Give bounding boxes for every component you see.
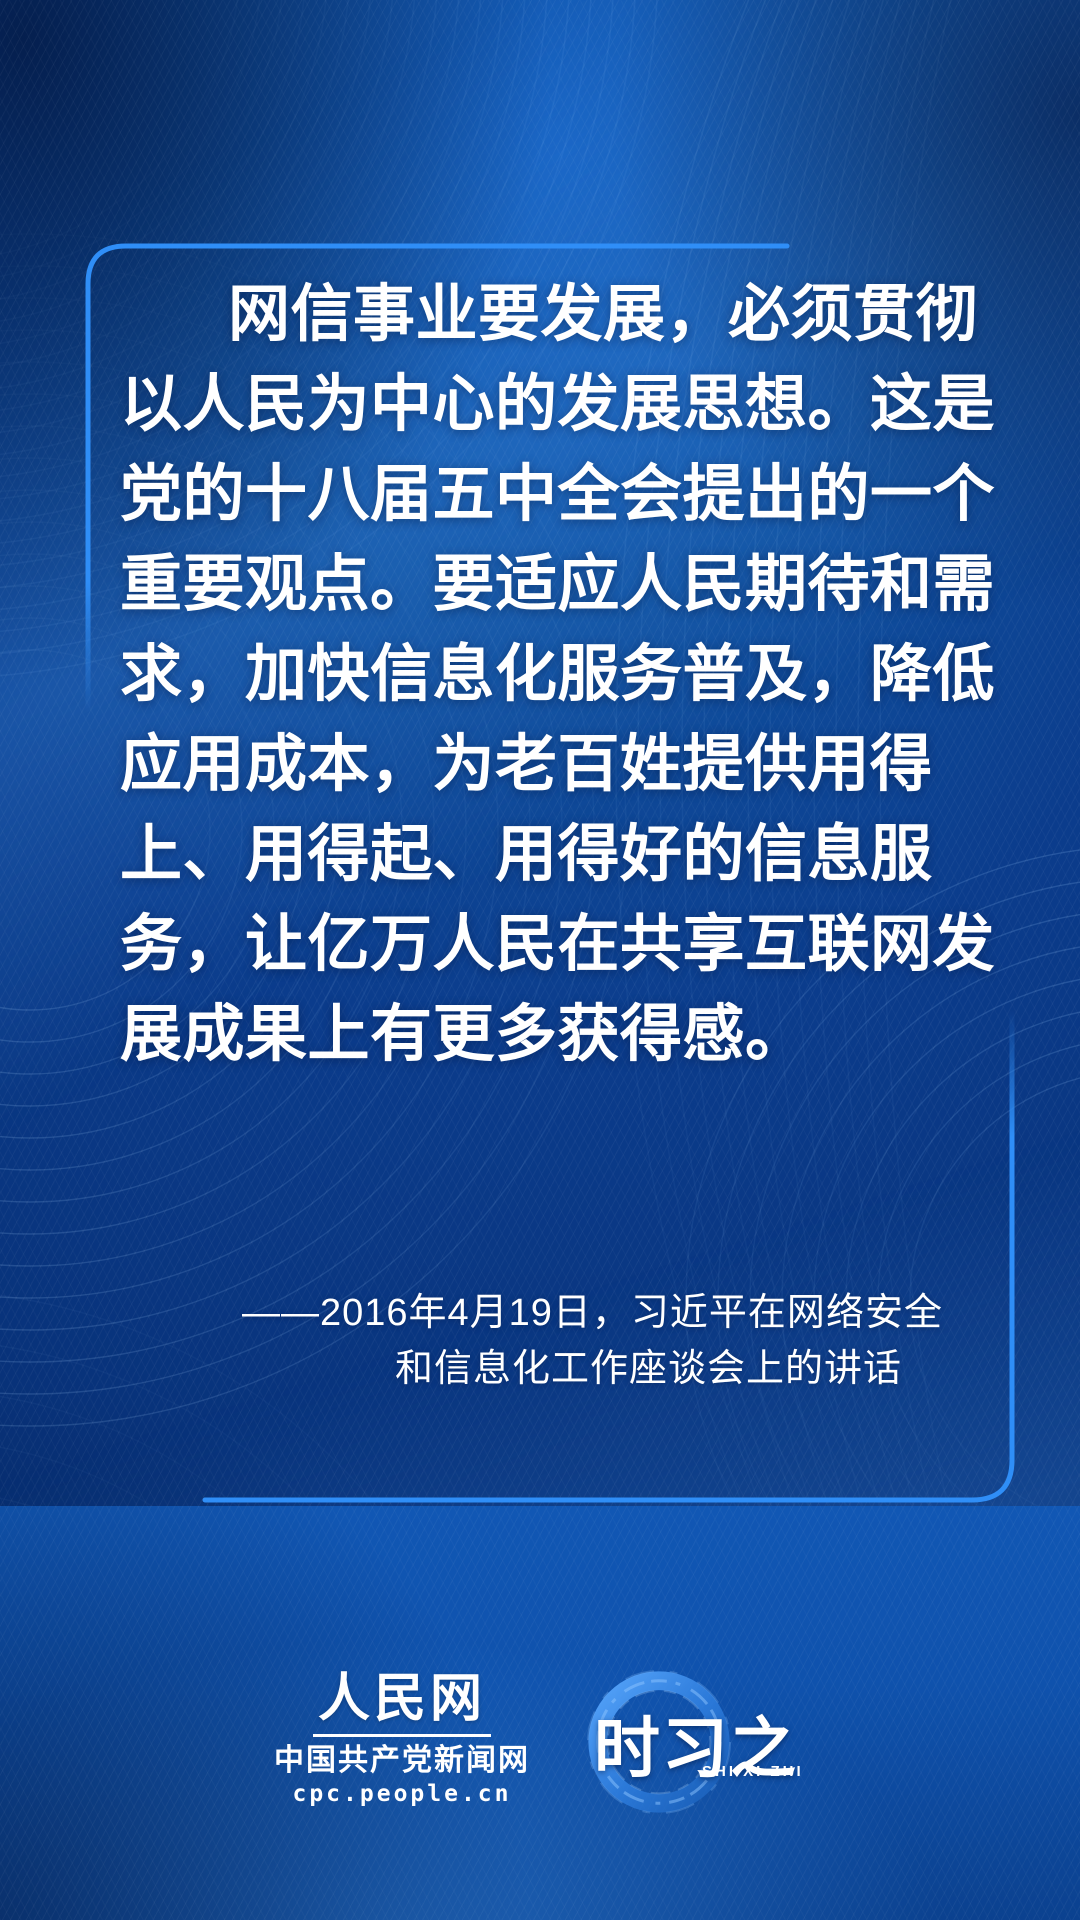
quote-line-1: 网信事业要发展，必须贯彻 xyxy=(120,270,960,360)
quote-line-6: 应用成本，为老百姓提供用得 xyxy=(120,720,960,810)
quote-line-2: 以人民为中心的发展思想。这是 xyxy=(120,360,960,450)
shixizhi-logo[interactable]: 时习之 SHI XI ZHI xyxy=(576,1655,806,1825)
quote-line-4: 重要观点。要适应人民期待和需 xyxy=(120,540,960,630)
cpc-news-subtitle: 中国共产党新闻网 xyxy=(274,1746,530,1776)
quote-line-3: 党的十八届五中全会提出的一个 xyxy=(120,450,960,540)
quote-line-8: 务，让亿万人民在共享互联网发 xyxy=(120,900,960,990)
quote-line-5: 求，加快信息化服务普及，降低 xyxy=(120,630,960,720)
cpc-people-logo[interactable]: 人民网 中国共产党新闻网 cpc.people.cn xyxy=(274,1674,530,1806)
quote-line-9: 展成果上有更多获得感。 xyxy=(120,990,960,1080)
attribution-line-1: ——2016年4月19日，习近平在网络安全 xyxy=(242,1285,902,1341)
attribution-line-2: 和信息化工作座谈会上的讲话 xyxy=(242,1341,902,1397)
people-daily-brand-text: 人民网 xyxy=(318,1674,486,1732)
shixizhi-pinyin: SHI XI ZHI xyxy=(702,1763,804,1780)
quote-line-7: 上、用得起、用得好的信息服 xyxy=(120,810,960,900)
quote-attribution: ——2016年4月19日，习近平在网络安全 和信息化工作座谈会上的讲话 xyxy=(242,1285,902,1397)
logo-divider-rule xyxy=(313,1734,491,1737)
footer-logos: 人民网 中国共产党新闻网 cpc.people.cn 时习之 SHI XI ZH… xyxy=(0,1640,1080,1840)
quote-block: 网信事业要发展，必须贯彻 以人民为中心的发展思想。这是 党的十八届五中全会提出的… xyxy=(120,270,960,1080)
cpc-website-url: cpc.people.cn xyxy=(292,1783,511,1806)
